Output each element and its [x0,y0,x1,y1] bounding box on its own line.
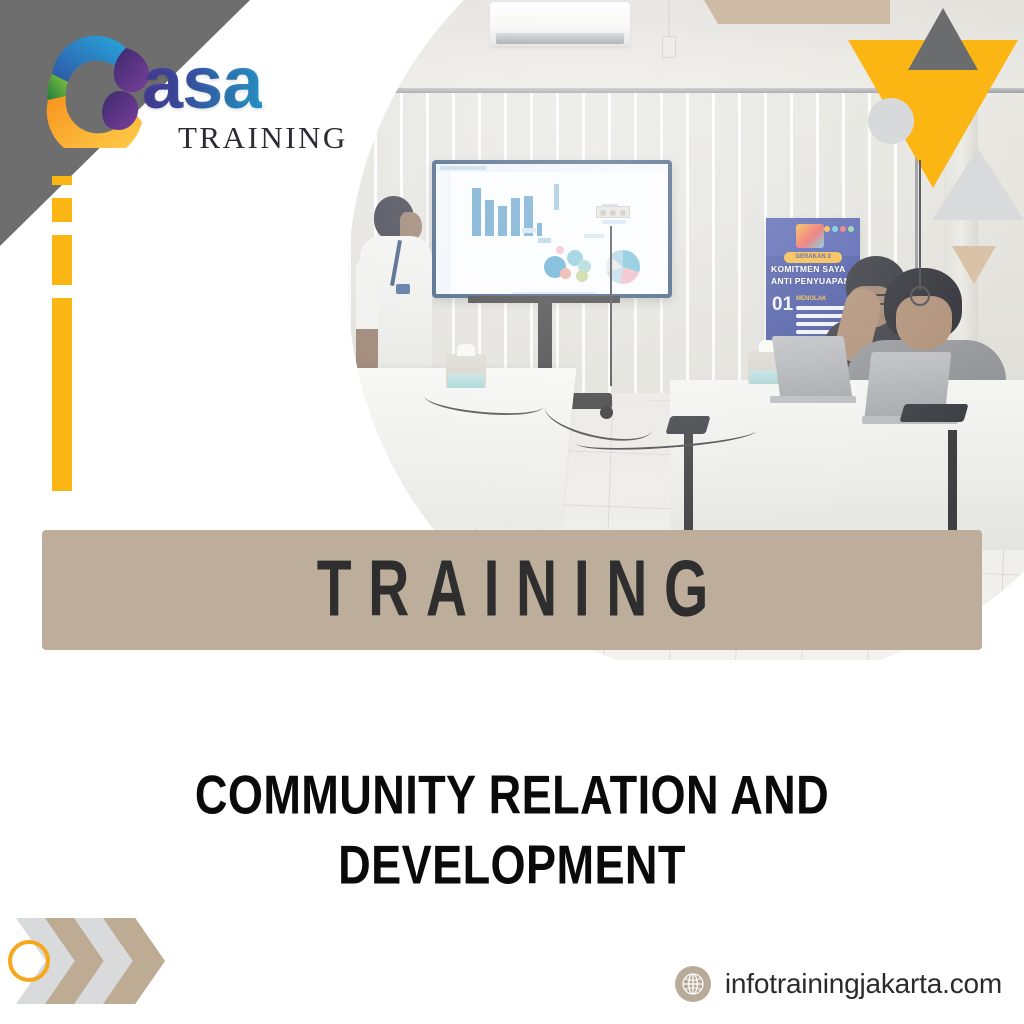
dashboard-sidebar [436,172,450,294]
website-url[interactable]: infotrainingjakarta.com [725,968,1002,1000]
mobile-phone [899,404,968,422]
globe-icon [675,966,711,1002]
dashboard-label [522,228,536,233]
dashboard-bubble [560,268,571,279]
air-conditioner-icon [490,2,630,46]
dashboard-toolbar [436,164,668,172]
standee-graphic [796,224,824,248]
logo-wordmark: asa [142,46,262,120]
yellow-dashed-vertical-line [52,176,72,504]
standee-headline-2: ANTI PENYUAPAN [771,276,857,287]
table-leg [684,430,693,540]
power-cable [610,226,640,386]
footer-website[interactable]: infotrainingjakarta.com [675,966,1002,1002]
laptop-base [770,396,856,403]
display-control-bar [512,292,598,294]
table-leg [948,430,957,534]
decor-rod [919,160,921,290]
poster-canvas: GERAKAN 3 KOMITMEN SAYA ANTI PENYUAPAN 0… [0,0,1024,1024]
laptop-screen [772,336,853,398]
standee-item1-label: MENOLAK [796,296,826,302]
presenter-badge [396,284,410,294]
dashboard-label [538,238,551,243]
banner-label: TRAINING [317,550,725,629]
presenter-arm [356,258,378,376]
page-title: COMMUNITY RELATION AND DEVELOPMENT [62,760,962,900]
standee-headline-1: KOMITMEN SAYA [771,264,857,275]
hanging-ring [910,286,930,306]
standee-pill: GERAKAN 3 [784,252,842,263]
tan-angled-strip [690,0,890,24]
ac-wall-box [662,36,676,58]
gray-circle [868,98,914,144]
standee-header [766,218,860,256]
dashboard-label [584,234,604,238]
casa-training-logo[interactable]: asa TRAINING [30,16,340,156]
tissue-box [446,354,486,388]
standee-item1-number: 01 [772,294,793,316]
table-right [670,380,1024,550]
title-line-2: DEVELOPMENT [80,824,944,905]
dashboard-label [602,220,626,224]
training-banner: TRAINING [42,530,982,650]
dashboard-bubble [576,270,588,282]
logo-subtitle: TRAINING [178,120,348,156]
ac-pipe [668,0,670,40]
casa-circular-swirl-logo [30,22,160,148]
standee-dots [824,226,854,232]
orange-circle-outline [8,940,50,982]
wall-socket [596,206,630,218]
dashboard-kpi [554,184,559,210]
dashboard-bubble [556,246,564,254]
